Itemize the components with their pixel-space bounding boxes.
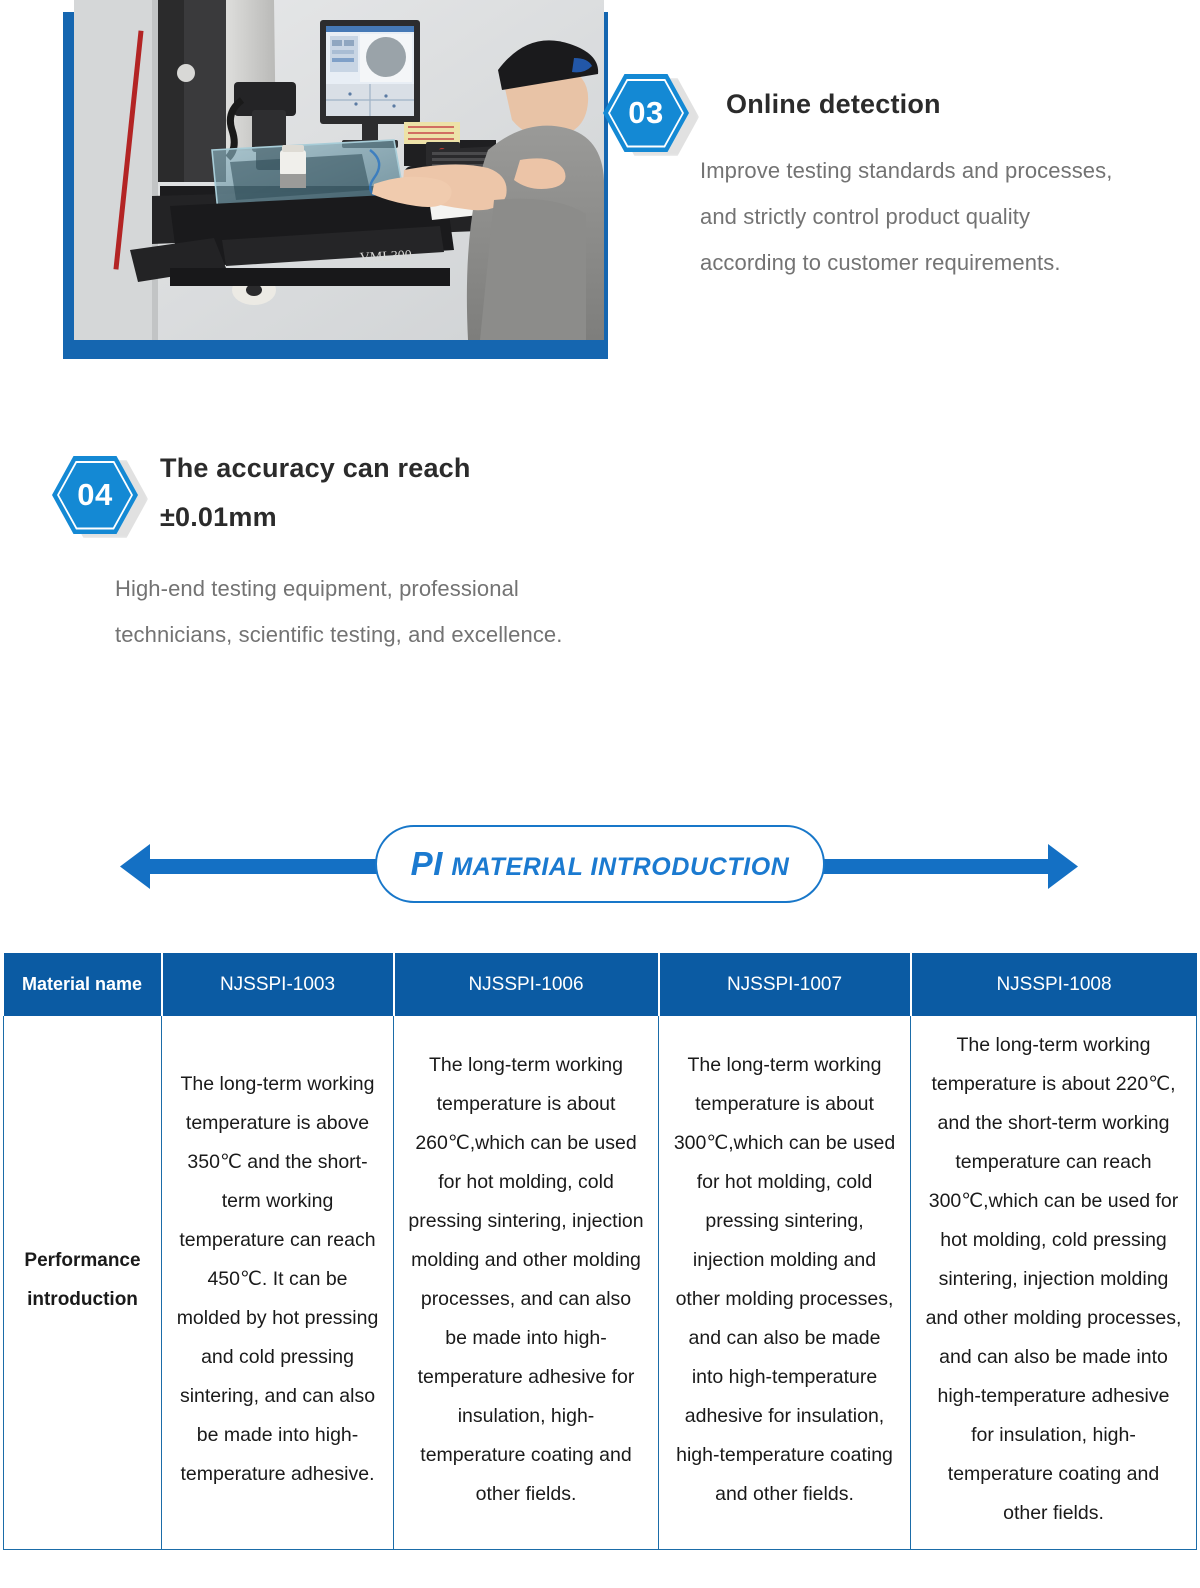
table-header-njsspi-1007: NJSSPI-1007 [659, 953, 911, 1016]
section-04-title: The accuracy can reach ±0.01mm [160, 444, 560, 542]
arrow-right-head-icon [1048, 844, 1078, 889]
table-header-njsspi-1008: NJSSPI-1008 [911, 953, 1197, 1016]
table-header-njsspi-1003: NJSSPI-1003 [162, 953, 394, 1016]
online-detection-photo: VML300 [74, 0, 604, 340]
table-head: Material name NJSSPI-1003 NJSSPI-1006 NJ… [4, 953, 1197, 1016]
section-03-body: Improve testing standards and processes,… [700, 148, 1120, 286]
table-header-material-name: Material name [4, 953, 162, 1016]
optical-measuring-scene: VML300 [74, 0, 604, 340]
pi-material-table: Material name NJSSPI-1003 NJSSPI-1006 NJ… [3, 953, 1197, 1550]
banner-rest-text: MATERIAL INTRODUCTION [451, 853, 789, 881]
table-header-njsspi-1006: NJSSPI-1006 [394, 953, 659, 1016]
product-detail-page: VML300 [0, 0, 1200, 1588]
arrow-right-bar [800, 859, 1050, 874]
section-04-body: High-end testing equipment, professional… [115, 566, 585, 658]
table-body: Performance introduction The long-term w… [4, 1016, 1197, 1550]
svg-text:VML300: VML300 [359, 248, 412, 266]
table-row: Performance introduction The long-term w… [4, 1016, 1197, 1550]
pi-material-banner-box: PI MATERIAL INTRODUCTION [375, 825, 825, 903]
pi-material-banner-text: PI MATERIAL INTRODUCTION [411, 845, 790, 883]
accuracy-photo-frame [600, 415, 1145, 765]
cell-njsspi-1006-performance: The long-term working temperature is abo… [394, 1016, 659, 1550]
section-04-badge: 04 [52, 452, 148, 538]
online-detection-photo-frame: VML300 [30, 0, 590, 360]
banner-lead-text: PI [411, 845, 443, 882]
arrow-left-head-icon [120, 844, 150, 889]
table-header-row: Material name NJSSPI-1003 NJSSPI-1006 NJ… [4, 953, 1197, 1016]
section-04-number: 04 [52, 456, 138, 534]
pi-material-table-wrapper: Material name NJSSPI-1003 NJSSPI-1006 NJ… [3, 953, 1196, 1550]
section-03-number: 03 [603, 74, 689, 152]
section-03-title: Online detection [726, 82, 1176, 126]
row-label-performance-introduction: Performance introduction [4, 1016, 162, 1550]
arrow-left-bar [148, 859, 398, 874]
cell-njsspi-1007-performance: The long-term working temperature is abo… [659, 1016, 911, 1550]
section-03-badge: 03 [603, 70, 699, 156]
cell-njsspi-1008-performance: The long-term working temperature is abo… [911, 1016, 1197, 1550]
cell-njsspi-1003-performance: The long-term working temperature is abo… [162, 1016, 394, 1550]
